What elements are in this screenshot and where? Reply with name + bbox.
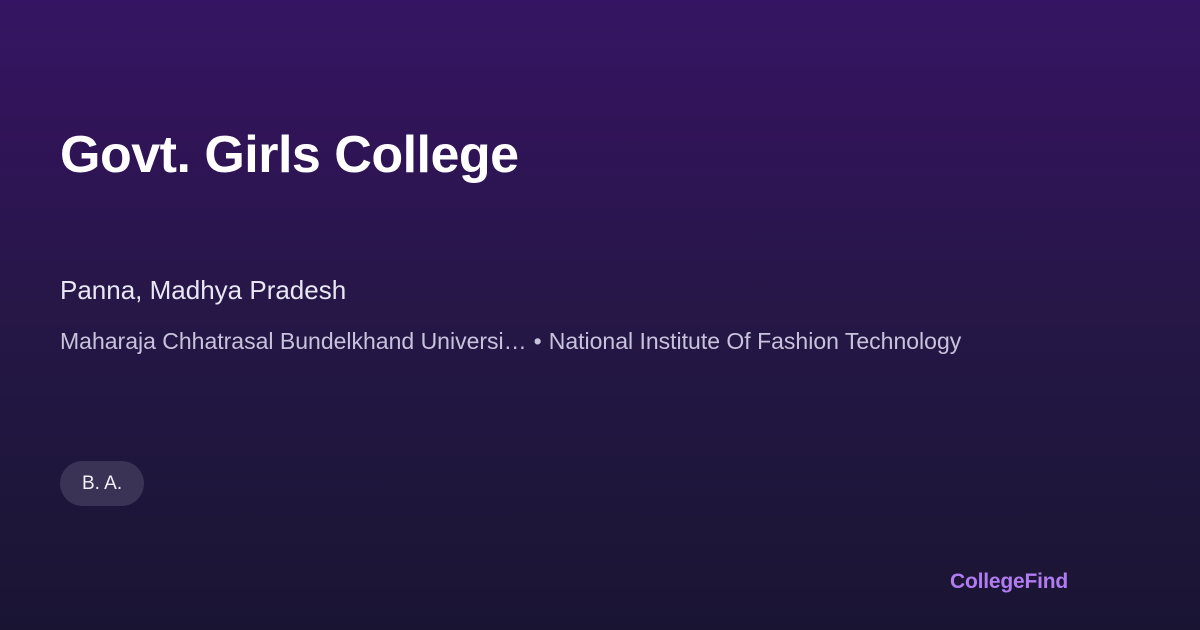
affiliation-separator: • (534, 327, 542, 357)
college-location: Panna, Madhya Pradesh (60, 274, 346, 308)
brand-logo: CollegeFind (950, 570, 1068, 594)
college-og-card: Govt. Girls College Panna, Madhya Prades… (0, 0, 1200, 630)
affiliation-primary: Maharaja Chhatrasal Bundelkhand Universi… (60, 328, 527, 354)
course-badge-ba: B. A. (60, 461, 144, 506)
course-badge-list: B. A. (60, 461, 144, 506)
affiliation-secondary: National Institute Of Fashion Technology (549, 328, 962, 354)
page-title: Govt. Girls College (60, 126, 519, 186)
card-content: Govt. Girls College Panna, Madhya Prades… (60, 0, 1200, 630)
college-affiliations: Maharaja Chhatrasal Bundelkhand Universi… (60, 327, 961, 357)
